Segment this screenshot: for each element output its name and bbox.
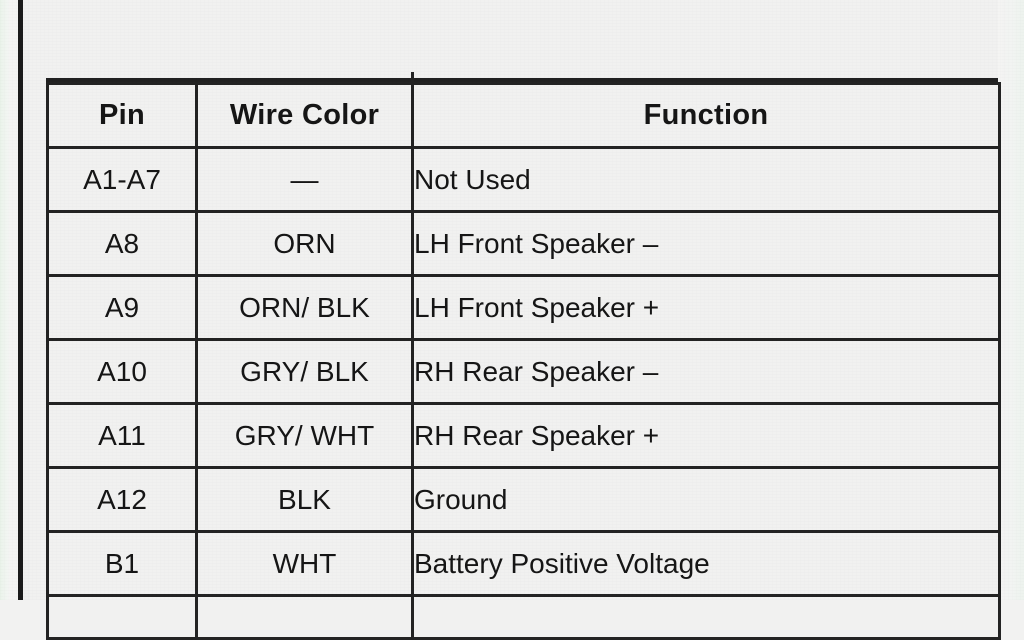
table-row: A8 ORN LH Front Speaker – <box>48 212 1000 276</box>
cell-function: Ground <box>413 468 1000 532</box>
cell-pin: A10 <box>48 340 197 404</box>
cell-function: LH Front Speaker + <box>413 276 1000 340</box>
document-page: Pin Wire Color Function A1-A7 — Not Used… <box>0 0 1024 600</box>
cell-function: LH Front Speaker – <box>413 212 1000 276</box>
cell-pin: A12 <box>48 468 197 532</box>
cell-function: Battery Positive Voltage <box>413 532 1000 596</box>
cell-wire-color: ORN/ BLK <box>197 276 413 340</box>
cell-function: Not Used <box>413 148 1000 212</box>
table-header-row: Pin Wire Color Function <box>48 84 1000 148</box>
figure-frame: Pin Wire Color Function A1-A7 — Not Used… <box>18 0 984 600</box>
table-row-partial <box>48 596 1000 639</box>
table-row: A12 BLK Ground <box>48 468 1000 532</box>
cell-pin: A8 <box>48 212 197 276</box>
cell-wire-color: WHT <box>197 532 413 596</box>
cell-pin: A1-A7 <box>48 148 197 212</box>
column-header-pin: Pin <box>48 84 197 148</box>
cell-function: RH Rear Speaker – <box>413 340 1000 404</box>
cell-pin: A11 <box>48 404 197 468</box>
table-row: A11 GRY/ WHT RH Rear Speaker + <box>48 404 1000 468</box>
cell-pin: A9 <box>48 276 197 340</box>
blank-illustration-area <box>46 0 998 82</box>
table-row: A10 GRY/ BLK RH Rear Speaker – <box>48 340 1000 404</box>
table-row: A1-A7 — Not Used <box>48 148 1000 212</box>
cell-wire-color: ORN <box>197 212 413 276</box>
table-row: B1 WHT Battery Positive Voltage <box>48 532 1000 596</box>
scan-edge-left <box>0 0 9 600</box>
page-body: Pin Wire Color Function A1-A7 — Not Used… <box>9 0 1002 600</box>
cell-wire-color: GRY/ WHT <box>197 404 413 468</box>
scan-edge-right <box>1002 0 1024 600</box>
pin-assignment-table: Pin Wire Color Function A1-A7 — Not Used… <box>46 82 1001 640</box>
column-header-wire-color: Wire Color <box>197 84 413 148</box>
cell-pin <box>48 596 197 639</box>
cell-wire-color: GRY/ BLK <box>197 340 413 404</box>
cell-function: RH Rear Speaker + <box>413 404 1000 468</box>
table-row: A9 ORN/ BLK LH Front Speaker + <box>48 276 1000 340</box>
cell-wire-color: BLK <box>197 468 413 532</box>
cell-wire-color: — <box>197 148 413 212</box>
cell-pin: B1 <box>48 532 197 596</box>
column-header-function: Function <box>413 84 1000 148</box>
cell-function <box>413 596 1000 639</box>
cell-wire-color <box>197 596 413 639</box>
